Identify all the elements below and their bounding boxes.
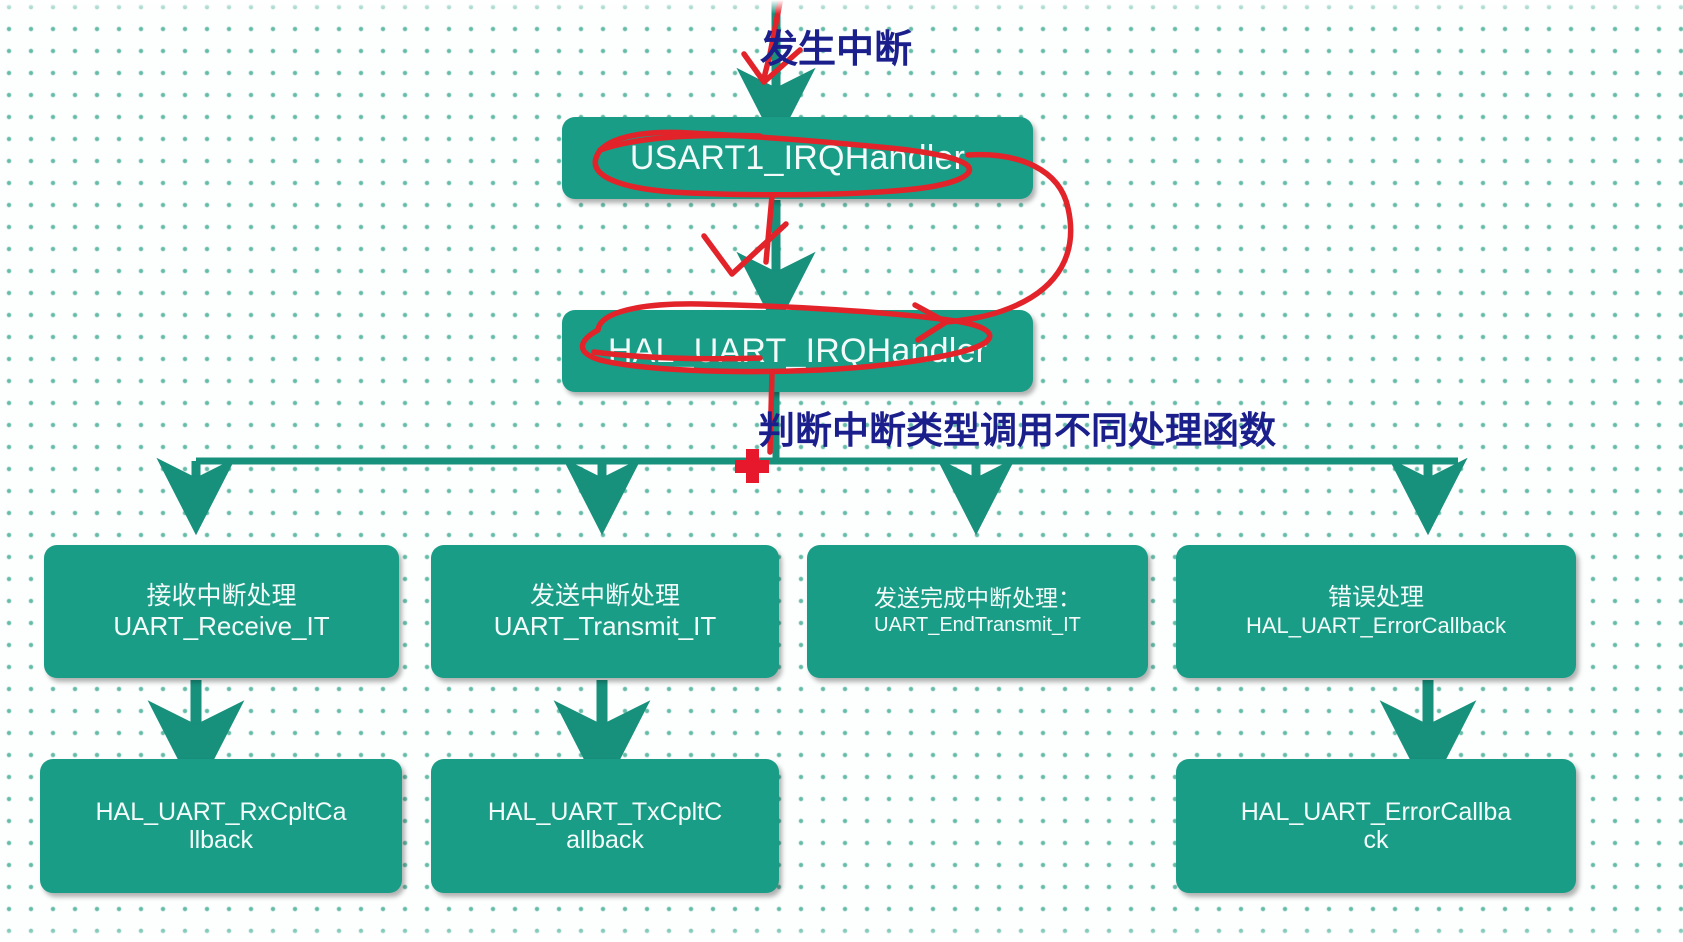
annotation-text-dispatch: 判断中断类型调用不同处理函数 [758, 400, 1276, 454]
node-label-line1: HAL_UART_TxCpltC [488, 798, 722, 826]
node-error-callback-leaf[interactable]: HAL_UART_ErrorCallba ck [1176, 759, 1576, 893]
plus-cursor-icon [735, 449, 769, 483]
node-rx-cplt-callback[interactable]: HAL_UART_RxCpltCa llback [40, 759, 402, 893]
diagram-canvas: USART1_IRQHandler HAL_UART_IRQHandler 接收… [0, 0, 1683, 942]
node-endtransmit-it[interactable]: 发送完成中断处理： UART_EndTransmit_IT [807, 545, 1148, 678]
node-label-line1: 发送中断处理 [530, 582, 680, 610]
node-transmit-it[interactable]: 发送中断处理 UART_Transmit_IT [431, 545, 779, 678]
node-tx-cplt-callback[interactable]: HAL_UART_TxCpltC allback [431, 759, 779, 893]
node-label-line1: HAL_UART_RxCpltCa [95, 798, 346, 826]
node-label-line2: UART_Receive_IT [113, 612, 329, 641]
node-label-line1: 接收中断处理 [146, 582, 296, 610]
node-label: USART1_IRQHandler [630, 139, 965, 177]
annotation-arrow-tick [704, 196, 786, 274]
node-label-line1: 发送完成中断处理： [874, 586, 1081, 612]
annotation-text-interrupt: 发生中断 [760, 18, 912, 73]
node-label: HAL_UART_IRQHandler [608, 332, 987, 370]
node-hal-uart-irqhandler[interactable]: HAL_UART_IRQHandler [562, 310, 1033, 392]
node-label-line1: HAL_UART_ErrorCallba [1241, 798, 1511, 826]
node-error-handler[interactable]: 错误处理 HAL_UART_ErrorCallback [1176, 545, 1576, 678]
plus-cursor-vertical-bar [746, 449, 759, 483]
node-label-line2: llback [189, 826, 253, 854]
node-receive-it[interactable]: 接收中断处理 UART_Receive_IT [44, 545, 399, 678]
node-label-line2: allback [566, 826, 644, 854]
node-label-line2: UART_EndTransmit_IT [874, 614, 1081, 636]
node-label-line2: HAL_UART_ErrorCallback [1246, 614, 1506, 639]
node-usart1-irqhandler[interactable]: USART1_IRQHandler [562, 117, 1033, 199]
node-label-line2: UART_Transmit_IT [494, 612, 717, 641]
node-label-line1: 错误处理 [1328, 585, 1424, 612]
node-label-line2: ck [1364, 826, 1389, 854]
